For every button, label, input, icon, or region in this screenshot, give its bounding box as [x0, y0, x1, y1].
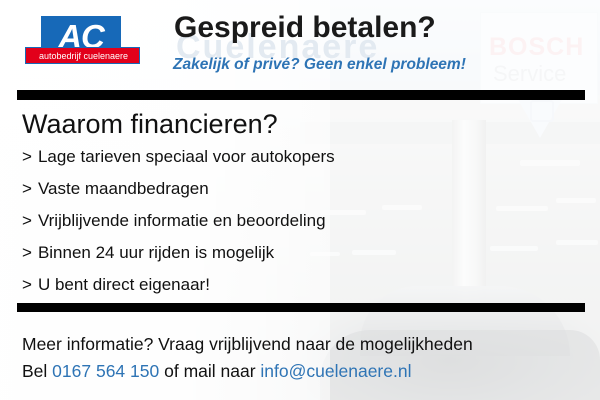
- list-item-label: Lage tarieven speciaal voor autokopers: [38, 147, 335, 167]
- list-item-label: Vrijblijvende informatie en beoordeling: [38, 211, 326, 231]
- chevron-right-icon: >: [22, 243, 32, 263]
- list-item-label: U bent direct eigenaar!: [38, 275, 210, 295]
- chevron-right-icon: >: [22, 179, 32, 199]
- list-item-label: Vaste maandbedragen: [38, 179, 209, 199]
- banner-subheadline: Zakelijk of privé? Geen enkel probleem!: [173, 56, 466, 74]
- list-item: > Binnen 24 uur rijden is mogelijk: [22, 243, 442, 275]
- list-item: > Vrijblijvende informatie en beoordelin…: [22, 211, 442, 243]
- company-logo[interactable]: AC autobedrijf cuelenaere: [25, 14, 143, 66]
- footer-contact-line: Bel 0167 564 150 of mail naar info@cuele…: [22, 361, 411, 382]
- footer-info-text: Meer informatie? Vraag vrijblijvend naar…: [22, 334, 473, 355]
- banner-headline: Gespreid betalen?: [174, 11, 436, 45]
- divider-bottom: [17, 303, 585, 312]
- list-item-label: Binnen 24 uur rijden is mogelijk: [38, 243, 274, 263]
- email-link[interactable]: info@cuelenaere.nl: [260, 361, 411, 381]
- chevron-right-icon: >: [22, 275, 32, 295]
- logo-tagline: autobedrijf cuelenaere: [26, 48, 141, 65]
- chevron-right-icon: >: [22, 147, 32, 167]
- chevron-right-icon: >: [22, 211, 32, 231]
- list-item: > Vaste maandbedragen: [22, 179, 442, 211]
- list-item: > Lage tarieven speciaal voor autokopers: [22, 147, 442, 179]
- footer-bel-label: Bel: [22, 361, 47, 381]
- footer-mail-label: of mail naar: [164, 361, 255, 381]
- phone-number-link[interactable]: 0167 564 150: [52, 361, 159, 381]
- logo-red-bar: autobedrijf cuelenaere: [25, 47, 140, 64]
- financing-promo-banner: BOSCH Service Cuelenaere AC autobedrijf …: [0, 0, 600, 400]
- section-heading: Waarom financieren?: [22, 109, 278, 140]
- divider-top: [17, 90, 585, 100]
- benefit-list: > Lage tarieven speciaal voor autokopers…: [22, 147, 442, 307]
